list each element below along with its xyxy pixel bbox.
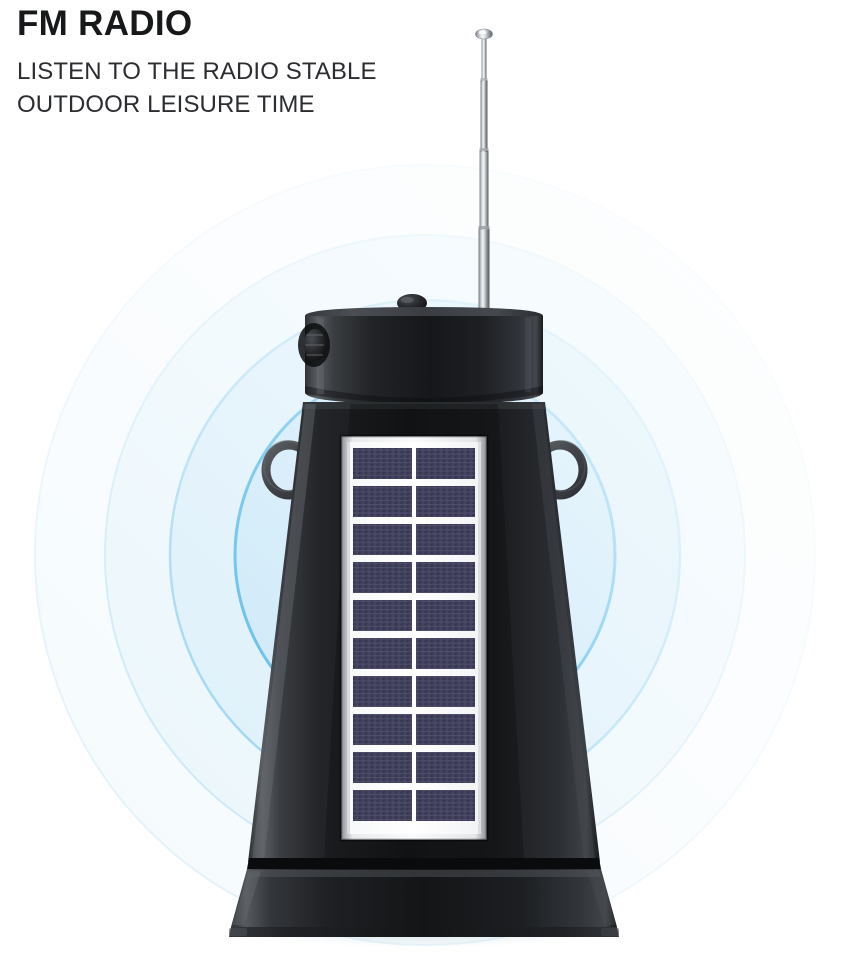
solar-cell (353, 562, 412, 593)
solar-panel-bevel-left (347, 442, 350, 834)
antenna-segment-3 (480, 150, 489, 230)
antenna-segment-1 (482, 36, 487, 82)
telescopic-antenna (476, 29, 493, 316)
cylinder-barrel (305, 316, 543, 404)
solar-panel-bevel-right (478, 442, 481, 834)
antenna-segment-4 (479, 228, 490, 316)
solar-cell (416, 752, 475, 783)
base-seam (247, 858, 601, 869)
base-foot-left (229, 928, 247, 936)
base-bottom-rim (229, 927, 619, 937)
solar-cell (416, 638, 475, 669)
solar-panel (341, 436, 487, 840)
antenna-joint-1 (481, 78, 488, 81)
solar-cell (353, 448, 412, 479)
solar-cell (353, 600, 412, 631)
solar-cell (353, 714, 412, 745)
solar-cell (416, 562, 475, 593)
side-knob-ridge-2 (305, 344, 324, 346)
solar-cell (416, 486, 475, 517)
solar-cell (416, 790, 475, 821)
flared-base (229, 858, 619, 937)
solar-cell (353, 676, 412, 707)
page-title: FM RADIO (17, 2, 377, 46)
solar-cell (353, 486, 412, 517)
antenna-joint-3 (479, 226, 490, 229)
antenna-segment-2 (481, 80, 488, 152)
header-block: FM RADIO LISTEN TO THE RADIO STABLE OUTD… (17, 2, 377, 121)
solar-cell (416, 600, 475, 631)
side-knob-ridge-1 (306, 334, 323, 336)
solar-cell (416, 524, 475, 555)
top-cylinder (298, 294, 543, 404)
base-shape (231, 869, 617, 927)
solar-cell (416, 714, 475, 745)
solar-cell (353, 752, 412, 783)
side-control-knob (298, 323, 330, 367)
base-top-highlight (247, 870, 601, 877)
antenna-tip-highlight (479, 31, 487, 35)
antenna-joint-2 (480, 148, 489, 151)
product-illustration (0, 0, 855, 961)
solar-cell (416, 448, 475, 479)
page-subtitle: LISTEN TO THE RADIO STABLE OUTDOOR LEISU… (17, 55, 377, 121)
cylinder-highlight-right (525, 318, 531, 392)
solar-cell (353, 524, 412, 555)
solar-cell (416, 676, 475, 707)
solar-cell (353, 638, 412, 669)
side-knob-ridge-3 (306, 354, 323, 356)
subtitle-line-1: LISTEN TO THE RADIO STABLE (17, 55, 377, 88)
subtitle-line-2: OUTDOOR LEISURE TIME (17, 88, 377, 121)
base-foot-right (601, 928, 619, 936)
solar-cell (353, 790, 412, 821)
top-small-knob-highlight (401, 297, 414, 303)
product-marketing-image: FM RADIO LISTEN TO THE RADIO STABLE OUTD… (0, 0, 855, 961)
